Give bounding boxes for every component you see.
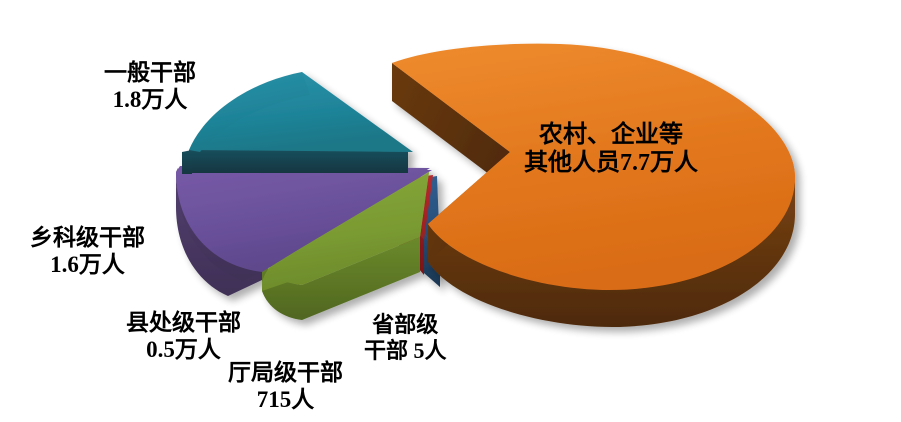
- label-provincial-cadres: 省部级 干部 5人: [364, 312, 447, 363]
- label-county-cadres: 县处级干部 0.5万人: [126, 310, 241, 363]
- pie-slice-other-personnel[interactable]: [392, 44, 795, 327]
- label-township-cadres: 乡科级干部 1.6万人: [30, 225, 145, 278]
- label-county-cadres-value: 0.5万人: [126, 337, 241, 364]
- label-general-cadres-name: 一般干部: [104, 60, 196, 87]
- label-general-cadres-value: 1.8万人: [104, 87, 196, 114]
- label-provincial-cadres-value: 干部 5人: [364, 338, 447, 364]
- pie-slice-general-cadres[interactable]: [182, 72, 413, 174]
- label-bureau-cadres: 厅局级干部 715人: [228, 360, 343, 413]
- label-other-personnel: 农村、企业等 其他人员7.7万人: [524, 122, 698, 178]
- label-bureau-cadres-name: 厅局级干部: [228, 360, 343, 387]
- label-other-personnel-value: 其他人员7.7万人: [524, 150, 698, 178]
- label-provincial-cadres-name: 省部级: [364, 312, 447, 338]
- label-other-personnel-name: 农村、企业等: [524, 122, 698, 150]
- label-township-cadres-name: 乡科级干部: [30, 225, 145, 252]
- pie-chart-figure: 一般干部 1.8万人 乡科级干部 1.6万人 县处级干部 0.5万人 厅局级干部…: [0, 0, 901, 422]
- pie-slice-general-side: [189, 150, 408, 173]
- pie-slices-main-group: [176, 72, 440, 320]
- label-county-cadres-name: 县处级干部: [126, 310, 241, 337]
- pie-slice-general-side-left: [182, 150, 192, 174]
- label-bureau-cadres-value: 715人: [228, 387, 343, 414]
- label-general-cadres: 一般干部 1.8万人: [104, 60, 196, 113]
- label-township-cadres-value: 1.6万人: [30, 252, 145, 279]
